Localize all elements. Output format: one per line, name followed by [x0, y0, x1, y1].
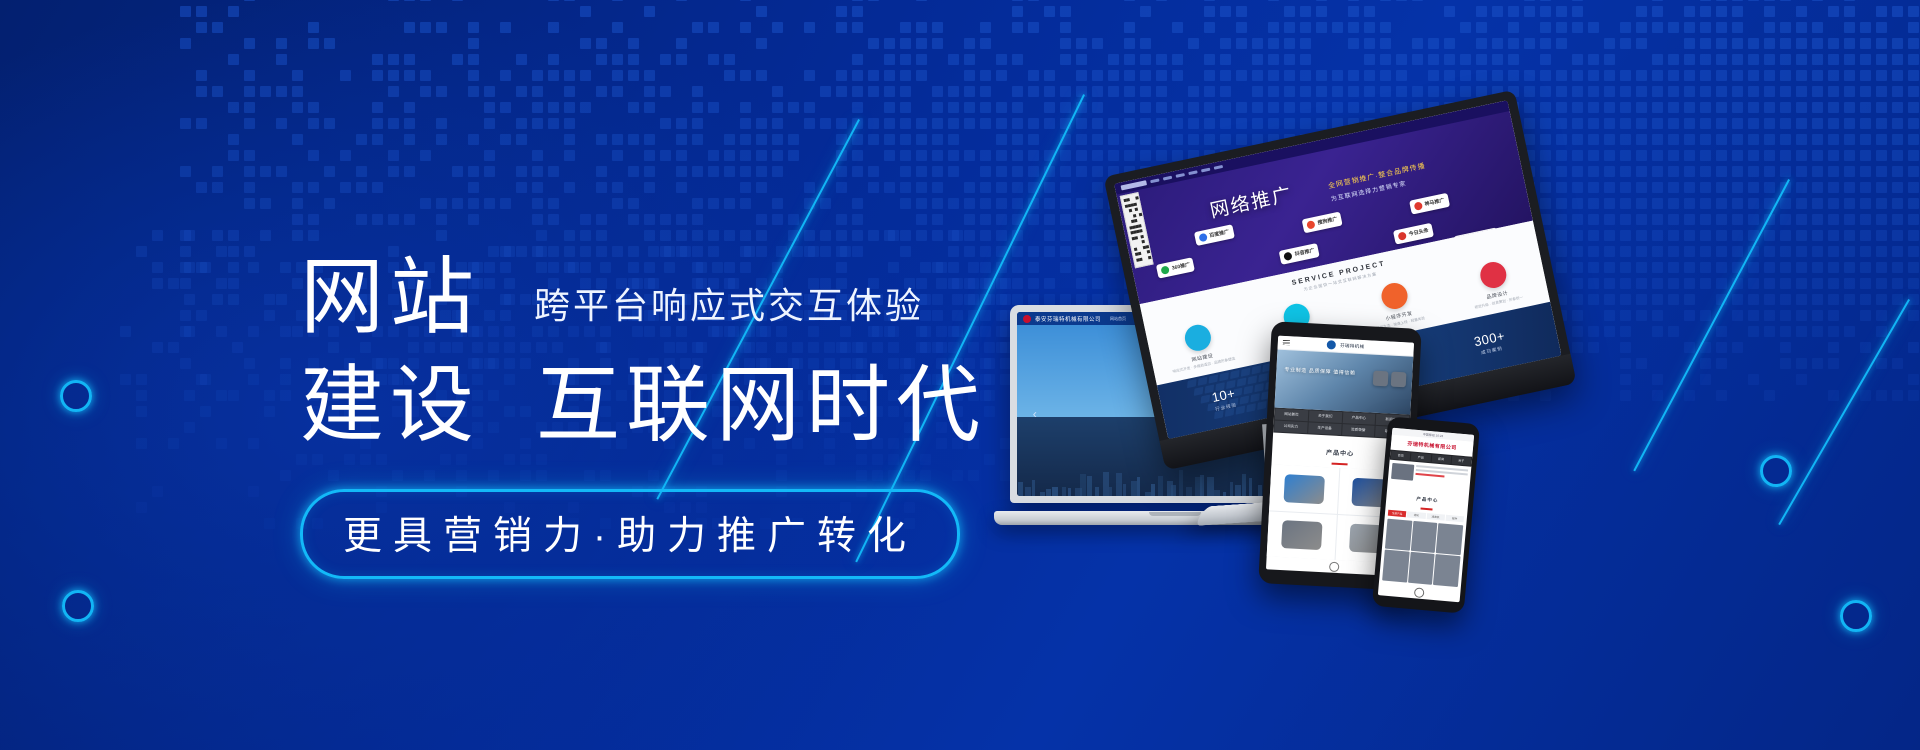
- dot-cell: [1284, 38, 1295, 49]
- tablet-product-thumb: [1391, 372, 1407, 388]
- dot-cell: [1732, 22, 1743, 33]
- dot-cell: [1860, 102, 1871, 113]
- dot-cell: [596, 134, 607, 145]
- dot-cell: [900, 134, 911, 145]
- dot-cell: [120, 326, 131, 337]
- dot-cell: [1540, 86, 1551, 97]
- dot-cell: [1012, 6, 1023, 17]
- home-button-icon: [1329, 561, 1340, 572]
- dot-cell: [436, 22, 447, 33]
- dot-cell: [1108, 118, 1119, 129]
- dot-cell: [1268, 0, 1279, 1]
- brand-label: 抖音推广: [1294, 247, 1315, 258]
- dot-cell: [244, 118, 255, 129]
- dot-cell: [1780, 70, 1791, 81]
- dot-cell: [1060, 54, 1071, 65]
- phone-product-thumb[interactable]: [1436, 523, 1463, 556]
- dot-cell: [1572, 22, 1583, 33]
- dot-cell: [180, 262, 191, 273]
- dot-cell: [900, 150, 911, 161]
- dot-cell: [628, 166, 639, 177]
- dot-cell: [1012, 166, 1023, 177]
- dot-cell: [964, 198, 975, 209]
- dot-cell: [916, 214, 927, 225]
- dot-cell: [564, 134, 575, 145]
- dot-cell: [1220, 38, 1231, 49]
- dot-cell: [1604, 70, 1615, 81]
- dot-cell: [1652, 102, 1663, 113]
- dot-cell: [1028, 150, 1039, 161]
- dot-cell: [1060, 182, 1071, 193]
- dot-cell: [852, 166, 863, 177]
- phone-product-thumb[interactable]: [1382, 550, 1409, 583]
- dot-cell: [152, 278, 163, 289]
- dot-cell: [996, 134, 1007, 145]
- dot-cell: [1476, 70, 1487, 81]
- dot-cell: [868, 230, 879, 241]
- city-block: [1230, 482, 1234, 496]
- dot-cell: [1540, 22, 1551, 33]
- tablet-product-images: [1373, 371, 1407, 388]
- dot-cell: [180, 358, 191, 369]
- dot-cell: [1364, 54, 1375, 65]
- dot-cell: [232, 342, 243, 353]
- laptop-notch: [1149, 512, 1201, 516]
- dot-cell: [756, 150, 767, 161]
- dot-cell: [708, 198, 719, 209]
- phone-nav-item[interactable]: 首页: [1391, 451, 1411, 461]
- brand-label: 搜狗推广: [1317, 216, 1338, 227]
- dot-cell: [1076, 38, 1087, 49]
- tablet-menu-item[interactable]: 关于我们: [1309, 410, 1342, 423]
- dot-cell: [1252, 70, 1263, 81]
- dot-cell: [1252, 38, 1263, 49]
- dot-cell: [868, 134, 879, 145]
- dot-cell: [1300, 102, 1311, 113]
- dot-cell: [280, 390, 291, 401]
- dot-cell: [1572, 86, 1583, 97]
- dot-cell: [1876, 38, 1887, 49]
- brand-logo-icon: [1397, 231, 1406, 240]
- dot-cell: [292, 134, 303, 145]
- dot-cell: [852, 6, 863, 17]
- dot-cell: [772, 118, 783, 129]
- dot-cell: [948, 54, 959, 65]
- phone-news-text: [1415, 465, 1468, 485]
- dot-cell: [536, 230, 547, 241]
- dot-cell: [564, 0, 575, 1]
- phone-product-thumb[interactable]: [1433, 554, 1460, 587]
- dot-cell: [1300, 118, 1311, 129]
- dot-cell: [900, 182, 911, 193]
- dot-cell: [452, 198, 463, 209]
- dot-cell: [136, 374, 147, 385]
- tablet-menu-item[interactable]: 资质荣誉: [1342, 424, 1375, 437]
- dot-cell: [228, 278, 239, 289]
- dot-cell: [932, 182, 943, 193]
- dot-cell: [740, 230, 751, 241]
- dot-cell: [900, 102, 911, 113]
- dot-cell: [996, 54, 1007, 65]
- dot-cell: [1764, 6, 1775, 17]
- dot-cell: [1140, 86, 1151, 97]
- dot-cell: [1508, 6, 1519, 17]
- dot-cell: [1076, 70, 1087, 81]
- tablet-product-cell[interactable]: [1269, 464, 1339, 513]
- dot-cell: [1684, 22, 1695, 33]
- dot-cell: [196, 70, 207, 81]
- dot-cell: [228, 54, 239, 65]
- dot-cell: [852, 0, 863, 1]
- dot-cell: [436, 230, 447, 241]
- qr-pixel: [1129, 209, 1133, 213]
- dot-cell: [1316, 70, 1327, 81]
- dot-cell: [276, 54, 287, 65]
- dot-cell: [916, 198, 927, 209]
- dot-cell: [1204, 6, 1215, 17]
- qr-pixel: [1138, 224, 1142, 228]
- dot-cell: [1284, 54, 1295, 65]
- dot-cell: [1428, 70, 1439, 81]
- dot-cell: [1508, 70, 1519, 81]
- dot-cell: [184, 230, 195, 241]
- dot-cell: [1524, 0, 1535, 1]
- dot-cell: [1124, 118, 1135, 129]
- dot-cell: [724, 230, 735, 241]
- dot-cell: [1348, 6, 1359, 17]
- dot-cell: [1572, 118, 1583, 129]
- qr-pixel: [1148, 255, 1152, 259]
- dot-cell: [1380, 38, 1391, 49]
- dot-cell: [1620, 102, 1631, 113]
- dot-cell: [1348, 86, 1359, 97]
- dot-cell: [1732, 6, 1743, 17]
- dot-cell: [932, 150, 943, 161]
- qr-pixel: [1133, 202, 1137, 206]
- dot-cell: [1684, 70, 1695, 81]
- dot-cell: [1908, 102, 1919, 113]
- dot-cell: [724, 150, 735, 161]
- dot-cell: [964, 86, 975, 97]
- dot-cell: [996, 166, 1007, 177]
- dot-cell: [900, 22, 911, 33]
- dot-cell: [580, 230, 591, 241]
- tablet-banner-text: 专业制造 品质保障 值得信赖: [1284, 366, 1356, 378]
- phone-nav-item[interactable]: 关于: [1451, 456, 1471, 466]
- dot-cell: [1124, 22, 1135, 33]
- dot-cell: [1140, 54, 1151, 65]
- dot-cell: [388, 0, 399, 1]
- dot-cell: [276, 86, 287, 97]
- dot-cell: [1780, 38, 1791, 49]
- dot-cell: [692, 134, 703, 145]
- dot-cell: [1124, 38, 1135, 49]
- tablet-product-cell[interactable]: [1267, 511, 1337, 560]
- dot-cell: [1908, 118, 1919, 129]
- dot-cell: [404, 102, 415, 113]
- dot-cell: [216, 390, 227, 401]
- dot-cell: [1364, 86, 1375, 97]
- dot-cell: [1252, 86, 1263, 97]
- city-block: [1242, 474, 1247, 496]
- dot-cell: [932, 38, 943, 49]
- dot-cell: [724, 134, 735, 145]
- dot-cell: [1364, 102, 1375, 113]
- dot-cell: [1140, 6, 1151, 17]
- dot-cell: [248, 374, 259, 385]
- dot-cell: [1252, 102, 1263, 113]
- dot-cell: [196, 86, 207, 97]
- dot-cell: [1268, 54, 1279, 65]
- dot-cell: [548, 70, 559, 81]
- dot-cell: [724, 166, 735, 177]
- phone-product-thumb[interactable]: [1410, 520, 1437, 553]
- dot-cell: [660, 86, 671, 97]
- dot-cell: [1588, 22, 1599, 33]
- dot-cell: [740, 182, 751, 193]
- dot-cell: [884, 134, 895, 145]
- dot-cell: [1700, 6, 1711, 17]
- city-block: [1087, 476, 1092, 496]
- dot-cell: [756, 70, 767, 81]
- dot-cell: [772, 134, 783, 145]
- dot-cell: [1764, 102, 1775, 113]
- dot-cell: [1652, 54, 1663, 65]
- dot-cell: [200, 374, 211, 385]
- dot-cell: [948, 150, 959, 161]
- dot-cell: [1012, 0, 1023, 1]
- glow-circle: [62, 590, 94, 622]
- dot-cell: [952, 230, 963, 241]
- tablet-menu-item[interactable]: 公司实力: [1274, 421, 1307, 434]
- dot-cell: [1380, 54, 1391, 65]
- dot-cell: [152, 230, 163, 241]
- dot-cell: [852, 134, 863, 145]
- dot-cell: [1012, 150, 1023, 161]
- dot-cell: [500, 22, 511, 33]
- dot-cell: [964, 182, 975, 193]
- laptop-logo-icon: [1023, 315, 1031, 323]
- dot-cell: [888, 230, 899, 241]
- dot-cell: [404, 214, 415, 225]
- dot-cell: [388, 70, 399, 81]
- dot-cell: [1524, 86, 1535, 97]
- dot-cell: [468, 166, 479, 177]
- dot-cell: [484, 86, 495, 97]
- dot-cell: [596, 54, 607, 65]
- dot-cell: [1860, 22, 1871, 33]
- dot-cell: [1284, 86, 1295, 97]
- dot-cell: [676, 38, 687, 49]
- dot-cell: [1316, 22, 1327, 33]
- monitor-nav-item: [1176, 173, 1185, 178]
- city-block: [1052, 487, 1058, 496]
- dot-cell: [468, 214, 479, 225]
- dot-cell: [932, 22, 943, 33]
- dot-cell: [868, 182, 879, 193]
- dot-cell: [1748, 54, 1759, 65]
- dot-cell: [1124, 102, 1135, 113]
- dot-cell: [404, 118, 415, 129]
- dot-cell: [1396, 54, 1407, 65]
- dot-cell: [644, 182, 655, 193]
- dot-cell: [836, 182, 847, 193]
- dot-cell: [244, 0, 255, 1]
- dot-cell: [980, 70, 991, 81]
- dot-cell: [980, 166, 991, 177]
- dot-cell: [1204, 70, 1215, 81]
- monitor-brand-chip: 神马推广: [1409, 193, 1450, 215]
- phone-product-thumb[interactable]: [1408, 552, 1435, 585]
- dot-cell: [1876, 102, 1887, 113]
- dot-cell: [292, 70, 303, 81]
- dot-cell: [468, 22, 479, 33]
- city-block: [1235, 485, 1241, 496]
- dot-cell: [180, 118, 191, 129]
- dot-cell: [1172, 22, 1183, 33]
- dot-cell: [1092, 118, 1103, 129]
- dot-cell: [996, 182, 1007, 193]
- dot-cell: [1092, 86, 1103, 97]
- dot-cell: [264, 406, 275, 417]
- dot-cell: [180, 38, 191, 49]
- dot-cell: [420, 198, 431, 209]
- dot-cell: [996, 102, 1007, 113]
- dot-cell: [676, 54, 687, 65]
- dot-cell: [1236, 6, 1247, 17]
- dot-cell: [1060, 214, 1071, 225]
- dot-cell: [372, 134, 383, 145]
- dot-cell: [996, 214, 1007, 225]
- tablet-section-rule: [1332, 463, 1348, 466]
- dot-cell: [388, 86, 399, 97]
- dot-cell: [356, 182, 367, 193]
- dot-cell: [1732, 54, 1743, 65]
- dot-cell: [980, 150, 991, 161]
- key-cell: [1248, 376, 1258, 385]
- dot-cell: [1620, 86, 1631, 97]
- dot-cell: [216, 246, 227, 257]
- dot-cell: [612, 0, 623, 1]
- dot-cell: [548, 118, 559, 129]
- tablet-menu-item[interactable]: 网站首页: [1275, 409, 1308, 422]
- dot-cell: [660, 118, 671, 129]
- dot-cell: [948, 118, 959, 129]
- dot-cell: [244, 166, 255, 177]
- dot-cell: [1076, 54, 1087, 65]
- dot-cell: [692, 118, 703, 129]
- qr-pixel: [1126, 198, 1130, 202]
- dot-cell: [1572, 54, 1583, 65]
- dot-cell: [1828, 70, 1839, 81]
- dot-cell: [1412, 86, 1423, 97]
- dot-cell: [900, 118, 911, 129]
- dot-cell: [1524, 38, 1535, 49]
- dot-cell: [516, 166, 527, 177]
- dot-cell: [244, 198, 255, 209]
- dot-cell: [1156, 86, 1167, 97]
- dot-cell: [548, 198, 559, 209]
- dot-cell: [452, 54, 463, 65]
- dot-cell: [1156, 54, 1167, 65]
- phone-nav-item[interactable]: 新闻: [1431, 454, 1451, 464]
- dot-cell: [708, 102, 719, 113]
- dot-cell: [1780, 0, 1791, 1]
- dot-cell: [868, 86, 879, 97]
- dot-cell: [1428, 86, 1439, 97]
- dot-cell: [1748, 0, 1759, 1]
- dot-cell: [756, 214, 767, 225]
- dot-cell: [836, 70, 847, 81]
- dot-cell: [852, 214, 863, 225]
- dot-cell: [1172, 54, 1183, 65]
- dot-cell: [228, 246, 239, 257]
- dot-cell: [1284, 102, 1295, 113]
- dot-cell: [964, 102, 975, 113]
- key-cell: [1241, 368, 1251, 377]
- dot-cell: [932, 166, 943, 177]
- dot-cell: [1316, 86, 1327, 97]
- dot-cell: [1652, 70, 1663, 81]
- dot-cell: [1588, 54, 1599, 65]
- dot-cell: [1268, 38, 1279, 49]
- dot-cell: [1220, 54, 1231, 65]
- dot-cell: [1908, 6, 1919, 17]
- dot-cell: [884, 38, 895, 49]
- dot-cell: [548, 54, 559, 65]
- dot-cell: [580, 6, 591, 17]
- dot-cell: [264, 518, 275, 529]
- dot-cell: [1748, 38, 1759, 49]
- phone-nav-item[interactable]: 产品: [1411, 453, 1431, 463]
- dot-cell: [1156, 118, 1167, 129]
- dot-cell: [708, 22, 719, 33]
- dot-cell: [772, 102, 783, 113]
- dot-cell: [228, 390, 239, 401]
- dot-cell: [596, 214, 607, 225]
- dot-cell: [308, 118, 319, 129]
- dot-cell: [548, 0, 559, 1]
- dot-cell: [1364, 38, 1375, 49]
- dot-cell: [948, 166, 959, 177]
- dot-cell: [1700, 70, 1711, 81]
- dot-cell: [1796, 86, 1807, 97]
- tablet-menu-item[interactable]: 生产设备: [1308, 422, 1341, 435]
- dot-cell: [948, 86, 959, 97]
- dot-cell: [1252, 118, 1263, 129]
- dot-cell: [788, 150, 799, 161]
- dot-cell: [228, 134, 239, 145]
- dot-cell: [1284, 118, 1295, 129]
- dot-cell: [1284, 6, 1295, 17]
- dot-cell: [612, 182, 623, 193]
- tablet-menu-item[interactable]: 产品中心: [1342, 412, 1375, 425]
- dot-cell: [756, 6, 767, 17]
- key-cell: [1194, 387, 1204, 396]
- dot-cell: [1700, 102, 1711, 113]
- dot-cell: [884, 102, 895, 113]
- dot-cell: [1236, 102, 1247, 113]
- key-cell: [1258, 373, 1268, 382]
- dot-cell: [136, 390, 147, 401]
- dot-cell: [772, 22, 783, 33]
- key-cell: [1198, 377, 1208, 386]
- dot-cell: [180, 310, 191, 321]
- dot-cell: [932, 86, 943, 97]
- phone-product-thumb[interactable]: [1385, 518, 1412, 551]
- dot-cell: [356, 166, 367, 177]
- qr-pixel: [1139, 212, 1143, 216]
